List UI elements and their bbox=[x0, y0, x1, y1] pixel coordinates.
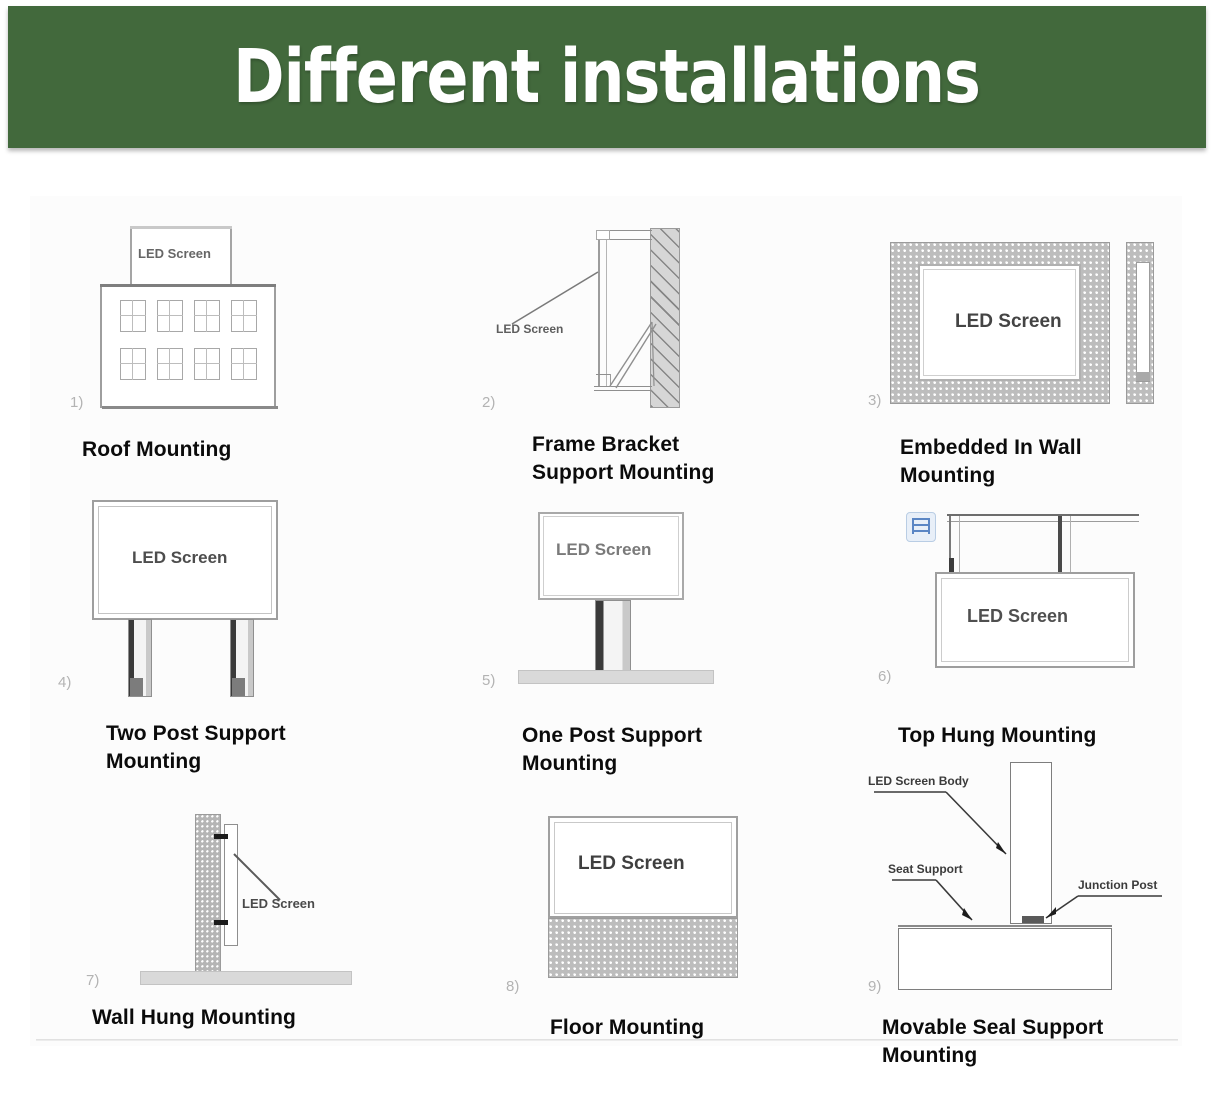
figure-number: 3) bbox=[868, 392, 881, 409]
screen-label: LED Screen bbox=[967, 606, 1068, 627]
figure-number: 7) bbox=[86, 972, 99, 989]
window-mullion-v bbox=[206, 348, 207, 380]
figure-cell-movable-seal-support-mounting: LED Screen Body Seat Support Junction Po… bbox=[850, 756, 1214, 1086]
hanger-right-a bbox=[1058, 516, 1062, 574]
frame-bracket-diagram: LED Screen 2) bbox=[450, 196, 850, 426]
window-mullion-h bbox=[194, 315, 220, 316]
callout-leader-lines bbox=[850, 756, 1214, 1016]
building-bottom-shadow bbox=[102, 406, 278, 409]
top-bracket-plate bbox=[596, 230, 610, 240]
figure-cell-floor-mounting: LED Screen 8) Floor Mounting bbox=[450, 786, 850, 1086]
hanger-left-b bbox=[959, 516, 960, 574]
hanger-right-b bbox=[1070, 516, 1071, 574]
callout-junction-post: Junction Post bbox=[1078, 878, 1157, 892]
wall-bracket-bottom bbox=[214, 920, 228, 925]
installation-figure-grid: LED Screen bbox=[30, 196, 1190, 1066]
window-mullion-v bbox=[132, 300, 133, 332]
figure-number: 1) bbox=[70, 394, 83, 411]
window-mullion-v bbox=[243, 300, 244, 332]
window bbox=[120, 348, 146, 380]
window-mullion-v bbox=[169, 300, 170, 332]
figure-cell-wall-hung-mounting: LED Screen 7) Wall Hung Mounting bbox=[30, 786, 450, 1086]
figure-number: 9) bbox=[868, 978, 881, 995]
floor-base-block bbox=[548, 918, 738, 978]
callout-seat-support: Seat Support bbox=[888, 862, 963, 876]
window bbox=[194, 300, 220, 332]
screen-label: LED Screen bbox=[578, 853, 685, 875]
window-mullion-h bbox=[194, 363, 220, 364]
screen-side-foot bbox=[1136, 372, 1150, 381]
figure-cell-frame-bracket-support-mounting: LED Screen 2) Frame Bracket Support Moun… bbox=[450, 196, 850, 486]
wall-bracket-top bbox=[214, 834, 228, 839]
overhead-beam-bottom bbox=[947, 521, 1139, 522]
wall-hung-diagram: LED Screen 7) bbox=[30, 786, 450, 1006]
figure-caption: One Post Support Mounting bbox=[522, 722, 842, 778]
floor-mounting-diagram: LED Screen 8) bbox=[450, 786, 850, 1006]
callout-led-screen-body: LED Screen Body bbox=[868, 774, 969, 788]
window-mullion-h bbox=[157, 363, 183, 364]
figure-number: 2) bbox=[482, 394, 495, 411]
screen-label: LED Screen bbox=[556, 540, 651, 560]
figure-caption: Top Hung Mounting bbox=[898, 722, 1214, 750]
figure-cell-roof-mounting: LED Screen bbox=[30, 196, 450, 486]
figure-number: 5) bbox=[482, 672, 495, 689]
screen-label: LED Screen bbox=[132, 548, 227, 568]
figure-number: 4) bbox=[58, 674, 71, 691]
window-mullion-v bbox=[243, 348, 244, 380]
roof-screen-label: LED Screen bbox=[138, 246, 211, 261]
figure-cell-one-post-support-mounting: LED Screen 5) One Post Support Mounting bbox=[450, 482, 850, 782]
two-post-support-diagram: LED Screen 4) bbox=[30, 482, 450, 702]
roof-mounting-diagram: LED Screen bbox=[30, 196, 450, 426]
window-mullion-v bbox=[169, 348, 170, 380]
figure-cell-top-hung-mounting: LED Screen 6) Top Hung Mounting bbox=[850, 482, 1210, 782]
window bbox=[231, 300, 257, 332]
figure-cell-two-post-support-mounting: LED Screen 4) Two Post Support Mounting bbox=[30, 482, 450, 782]
header-banner: Different installations bbox=[8, 6, 1206, 148]
window bbox=[157, 300, 183, 332]
window bbox=[120, 300, 146, 332]
roof-screen-top-edge bbox=[130, 226, 232, 229]
figure-number: 6) bbox=[878, 668, 891, 685]
figure-caption: Roof Mounting bbox=[82, 436, 382, 464]
window-mullion-h bbox=[231, 363, 257, 364]
window-mullion-h bbox=[120, 363, 146, 364]
screen-leader-label: LED Screen bbox=[496, 322, 563, 336]
window bbox=[194, 348, 220, 380]
ground-slab bbox=[518, 670, 714, 684]
figure-caption: Two Post Support Mounting bbox=[106, 720, 426, 776]
window-mullion-h bbox=[120, 315, 146, 316]
window bbox=[157, 348, 183, 380]
page-title: Different installations bbox=[234, 40, 981, 114]
window-mullion-h bbox=[157, 315, 183, 316]
screen-side-profile bbox=[1136, 262, 1150, 382]
window-mullion-v bbox=[132, 348, 133, 380]
post-foot-right bbox=[232, 678, 245, 696]
embedded-in-wall-diagram: LED Screen 3) bbox=[850, 196, 1210, 426]
broken-image-icon bbox=[906, 512, 936, 542]
ground-slab bbox=[140, 971, 352, 985]
window-mullion-v bbox=[206, 300, 207, 332]
support-post-center bbox=[595, 600, 631, 672]
figure-caption: Frame Bracket Support Mounting bbox=[532, 431, 832, 487]
overhead-beam-top bbox=[947, 514, 1139, 516]
figure-caption: Movable Seal Support Mounting bbox=[882, 1014, 1202, 1070]
figure-cell-embedded-in-wall-mounting: LED Screen 3) Embedded In Wall Mounting bbox=[850, 196, 1210, 486]
figure-number: 8) bbox=[506, 978, 519, 995]
one-post-support-diagram: LED Screen 5) bbox=[450, 482, 850, 702]
screen-label: LED Screen bbox=[955, 311, 1062, 333]
post-foot-left bbox=[130, 678, 143, 696]
movable-seal-support-diagram: LED Screen Body Seat Support Junction Po… bbox=[850, 756, 1214, 1016]
top-hung-diagram: LED Screen 6) bbox=[850, 482, 1210, 702]
screen-leader-label: LED Screen bbox=[242, 896, 315, 911]
figure-caption: Wall Hung Mounting bbox=[92, 1004, 422, 1032]
building-top-shadow bbox=[100, 284, 276, 287]
window-mullion-h bbox=[231, 315, 257, 316]
window bbox=[231, 348, 257, 380]
figure-caption: Floor Mounting bbox=[550, 1014, 870, 1042]
